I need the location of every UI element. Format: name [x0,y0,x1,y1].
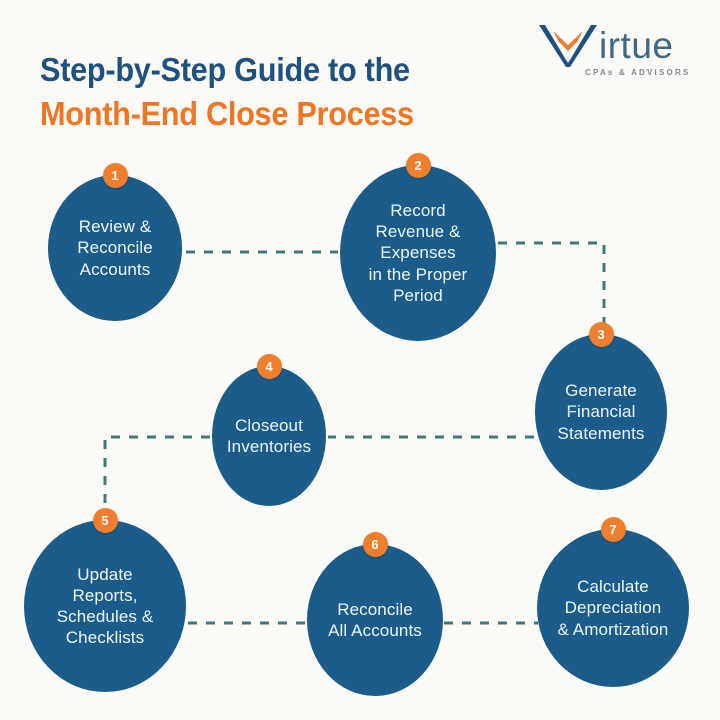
step-badge-6: 6 [363,532,388,557]
step-node-4[interactable]: Closeout Inventories [212,366,326,506]
step-node-1[interactable]: Review & Reconcile Accounts [48,175,182,321]
step-label-2: Record Revenue & Expenses in the Proper … [363,200,474,305]
step-badge-2: 2 [406,153,431,178]
step-badge-5: 5 [93,508,118,533]
step-node-7[interactable]: Calculate Depreciation & Amortization [537,529,689,687]
step-label-3: Generate Financial Statements [552,380,651,443]
infographic-canvas: Step-by-Step Guide to the Month-End Clos… [0,0,720,720]
step-label-7: Calculate Depreciation & Amortization [551,576,674,639]
step-label-5: Update Reports, Schedules & Checklists [51,564,160,648]
connector-2-to-3 [498,243,604,336]
step-label-6: Reconcile All Accounts [322,599,428,641]
step-label-1: Review & Reconcile Accounts [71,216,159,279]
step-node-6[interactable]: Reconcile All Accounts [307,544,443,696]
step-node-5[interactable]: Update Reports, Schedules & Checklists [24,520,186,692]
step-node-2[interactable]: Record Revenue & Expenses in the Proper … [340,165,496,341]
step-node-3[interactable]: Generate Financial Statements [535,334,667,490]
step-label-4: Closeout Inventories [221,415,317,457]
step-badge-7: 7 [601,517,626,542]
step-badge-1: 1 [103,163,128,188]
step-badge-3: 3 [589,322,614,347]
connector-4-to-5 [105,437,210,522]
step-badge-4: 4 [257,354,282,379]
